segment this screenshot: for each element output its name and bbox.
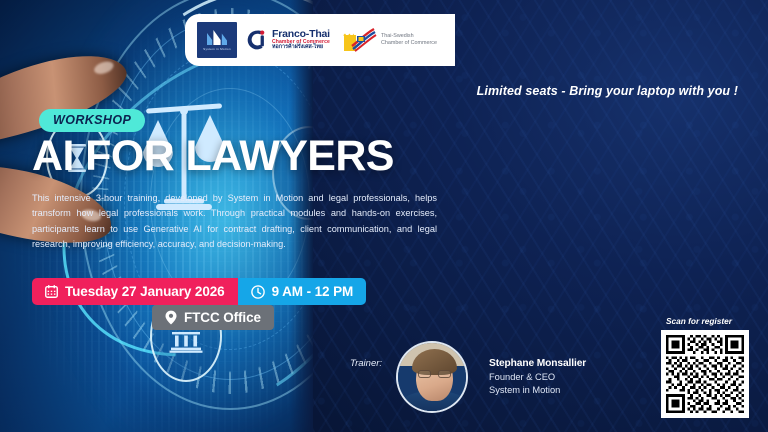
system-in-motion-caption: System in Motion <box>203 47 231 51</box>
calendar-icon <box>45 285 58 298</box>
map-pin-icon <box>165 310 177 325</box>
thai-swedish-mark-icon <box>343 26 377 54</box>
system-in-motion-mark-icon <box>206 29 228 46</box>
date-text: Tuesday 27 January 2026 <box>65 284 225 299</box>
avatar-photo <box>398 343 466 411</box>
thai-swedish-title: Thai-Swedish <box>381 33 437 40</box>
avatar-glasses <box>418 370 451 379</box>
clock-icon <box>251 285 265 299</box>
time-text: 9 AM - 12 PM <box>272 284 354 299</box>
thai-swedish-subtitle: Chamber of Commerce <box>381 40 437 47</box>
location-text: FTCC Office <box>184 310 261 325</box>
page-title: AI FOR LAWYERS <box>32 135 394 178</box>
trainer-label: Trainer: <box>350 358 382 369</box>
trainer-org: System in Motion <box>489 385 560 395</box>
trainer-name: Stephane Monsallier <box>489 358 586 369</box>
workshop-badge: WORKSHOP <box>39 109 145 132</box>
avatar <box>396 341 468 413</box>
date-pill: Tuesday 27 January 2026 <box>32 278 238 305</box>
event-promo-banner: System in Motion Franco-Thai Chamber of … <box>0 0 768 432</box>
thai-swedish-logo: Thai-Swedish Chamber of Commerce <box>343 26 437 54</box>
trainer-role: Founder & CEO <box>489 372 555 382</box>
franco-thai-thai-text: หอการค้าฝรั่งเศส-ไทย <box>272 45 330 51</box>
qr-code-image <box>666 335 744 413</box>
limited-seats-note: Limited seats - Bring your laptop with y… <box>313 84 753 98</box>
qr-code[interactable] <box>661 330 749 418</box>
qr-label: Scan for register <box>666 316 732 326</box>
franco-thai-mark-icon <box>246 29 268 51</box>
event-details-row: Tuesday 27 January 2026 9 AM - 12 PM <box>32 278 366 305</box>
franco-thai-logo: Franco-Thai Chamber of Commerce หอการค้า… <box>246 29 330 51</box>
system-in-motion-logo: System in Motion <box>197 22 237 58</box>
partner-logo-bar: System in Motion Franco-Thai Chamber of … <box>185 14 455 66</box>
description-text: This intensive 3-hour training, develope… <box>32 191 437 252</box>
location-pill: FTCC Office <box>152 305 274 330</box>
time-pill: 9 AM - 12 PM <box>238 278 367 305</box>
